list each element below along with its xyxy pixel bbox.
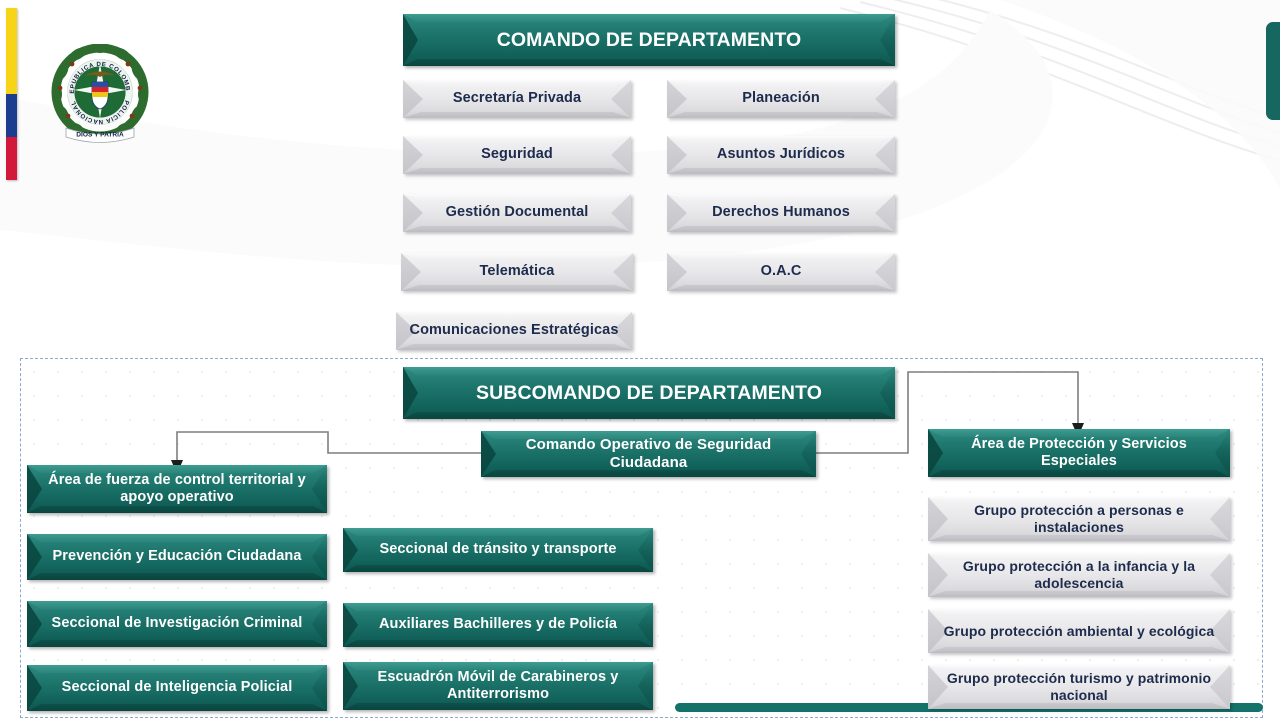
svg-text:DIOS Y PATRIA: DIOS Y PATRIA: [76, 132, 124, 139]
node-comunicaciones-estrategicas[interactable]: Comunicaciones Estratégicas: [396, 312, 632, 350]
bevel-bottom: [928, 535, 1230, 541]
node-label: Grupo protección a personas e instalacio…: [928, 502, 1230, 535]
bevel-bottom: [928, 591, 1230, 597]
bevel-bottom: [343, 565, 653, 572]
node-grupo-proteccion-ambiental-ecologica[interactable]: Grupo protección ambiental y ecológica: [928, 609, 1230, 653]
bevel-bottom: [667, 226, 895, 232]
bevel-top: [401, 253, 633, 259]
node-telematica[interactable]: Telemática: [401, 253, 633, 291]
bevel-bottom: [27, 573, 327, 580]
node-label: Telemática: [454, 263, 581, 280]
node-label: Seccional de Inteligencia Policial: [52, 679, 303, 696]
bevel-top: [667, 194, 895, 200]
bevel-top: [27, 534, 327, 542]
node-label: Planeación: [716, 90, 846, 107]
node-label: Seccional de tránsito y transporte: [369, 541, 626, 558]
organization-chart-slide: REPUBLICA DE COLOMBIA POLICIA NACIONAL D…: [0, 0, 1280, 720]
bevel-top: [667, 253, 895, 259]
bevel-top: [403, 136, 631, 142]
bevel-bottom: [343, 640, 653, 647]
edge-accent-tab: [1266, 22, 1280, 120]
bevel-bottom: [401, 285, 633, 291]
node-label: Grupo protección turismo y patrimonio na…: [928, 670, 1230, 703]
node-label: Seccional de Investigación Criminal: [42, 615, 313, 632]
bevel-top: [403, 194, 631, 200]
bevel-bottom: [27, 704, 327, 711]
bevel-bottom: [403, 226, 631, 232]
node-grupo-proteccion-personas-instalaciones[interactable]: Grupo protección a personas e instalacio…: [928, 497, 1230, 541]
node-auxiliares-bachilleres-policia[interactable]: Auxiliares Bachilleres y de Policía: [343, 603, 653, 647]
bevel-top: [27, 601, 327, 609]
node-area-proteccion-servicios-especiales[interactable]: Área de Protección y Servicios Especiale…: [928, 429, 1230, 477]
node-label: Seguridad: [455, 146, 579, 163]
node-subcomando-de-departamento[interactable]: SUBCOMANDO DE DEPARTAMENTO: [403, 367, 895, 419]
node-label: Grupo protección ambiental y ecológica: [930, 623, 1229, 640]
bevel-top: [396, 312, 632, 318]
node-label: Área de Protección y Servicios Especiale…: [928, 436, 1230, 470]
node-label: Asuntos Jurídicos: [691, 146, 871, 163]
node-gestion-documental[interactable]: Gestión Documental: [403, 194, 631, 232]
node-comando-operativo-seguridad-ciudadana[interactable]: Comando Operativo de Seguridad Ciudadana: [481, 431, 816, 477]
bevel-bottom: [928, 703, 1230, 709]
flag-band-red: [6, 137, 17, 180]
bevel-top: [403, 80, 631, 86]
node-secretaria-privada[interactable]: Secretaría Privada: [403, 80, 631, 118]
bevel-top: [343, 603, 653, 611]
node-label: Secretaría Privada: [427, 90, 607, 107]
bevel-bottom: [928, 647, 1230, 653]
flag-band-yellow: [6, 8, 17, 94]
bevel-bottom: [403, 112, 631, 118]
node-grupo-proteccion-turismo-patrimonio[interactable]: Grupo protección turismo y patrimonio na…: [928, 665, 1230, 709]
node-seccional-investigacion-criminal[interactable]: Seccional de Investigación Criminal: [27, 601, 327, 647]
bevel-bottom: [403, 168, 631, 174]
bevel-bottom: [27, 640, 327, 647]
node-label: Área de fuerza de control territorial y …: [27, 472, 327, 506]
bevel-top: [667, 80, 895, 86]
node-seccional-transito-transporte[interactable]: Seccional de tránsito y transporte: [343, 528, 653, 572]
bevel-bottom: [396, 344, 632, 350]
bevel-bottom: [667, 112, 895, 118]
node-oac[interactable]: O.A.C: [667, 253, 895, 291]
policia-nacional-emblem: REPUBLICA DE COLOMBIA POLICIA NACIONAL D…: [50, 44, 150, 148]
bevel-bottom: [667, 285, 895, 291]
node-prevencion-educacion-ciudadana[interactable]: Prevención y Educación Ciudadana: [27, 534, 327, 580]
bevel-top: [403, 14, 895, 22]
node-derechos-humanos[interactable]: Derechos Humanos: [667, 194, 895, 232]
node-label: Prevención y Educación Ciudadana: [43, 548, 312, 565]
bevel-bottom: [667, 168, 895, 174]
node-label: Auxiliares Bachilleres y de Policía: [369, 616, 627, 633]
node-seguridad[interactable]: Seguridad: [403, 136, 631, 174]
bevel-top: [403, 367, 895, 375]
node-planeacion[interactable]: Planeación: [667, 80, 895, 118]
bevel-top: [928, 609, 1230, 615]
node-label: Grupo protección a la infancia y la adol…: [928, 558, 1230, 591]
colombia-flag-stripe: [6, 8, 17, 180]
node-escuadron-movil-carabineros[interactable]: Escuadrón Móvil de Carabineros y Antiter…: [343, 662, 653, 710]
flag-band-blue: [6, 94, 17, 137]
node-label: Escuadrón Móvil de Carabineros y Antiter…: [343, 669, 653, 703]
node-asuntos-juridicos[interactable]: Asuntos Jurídicos: [667, 136, 895, 174]
node-area-fuerza-control-territorial[interactable]: Área de fuerza de control territorial y …: [27, 465, 327, 513]
bevel-top: [343, 528, 653, 536]
node-label: Comunicaciones Estratégicas: [404, 322, 625, 339]
node-label: Derechos Humanos: [686, 204, 876, 221]
node-grupo-proteccion-infancia-adolescencia[interactable]: Grupo protección a la infancia y la adol…: [928, 553, 1230, 597]
node-label: SUBCOMANDO DE DEPARTAMENTO: [450, 382, 848, 405]
bevel-bottom: [27, 506, 327, 513]
node-label: O.A.C: [735, 263, 828, 280]
node-comando-de-departamento[interactable]: COMANDO DE DEPARTAMENTO: [403, 14, 895, 66]
node-label: COMANDO DE DEPARTAMENTO: [471, 29, 828, 52]
bevel-bottom: [403, 412, 895, 419]
node-label: Gestión Documental: [420, 204, 615, 221]
bevel-bottom: [403, 59, 895, 66]
bevel-bottom: [928, 470, 1230, 477]
node-seccional-inteligencia-policial[interactable]: Seccional de Inteligencia Policial: [27, 665, 327, 711]
bevel-top: [667, 136, 895, 142]
bevel-bottom: [343, 703, 653, 710]
node-label: Comando Operativo de Seguridad Ciudadana: [481, 436, 816, 471]
bevel-top: [27, 665, 327, 673]
